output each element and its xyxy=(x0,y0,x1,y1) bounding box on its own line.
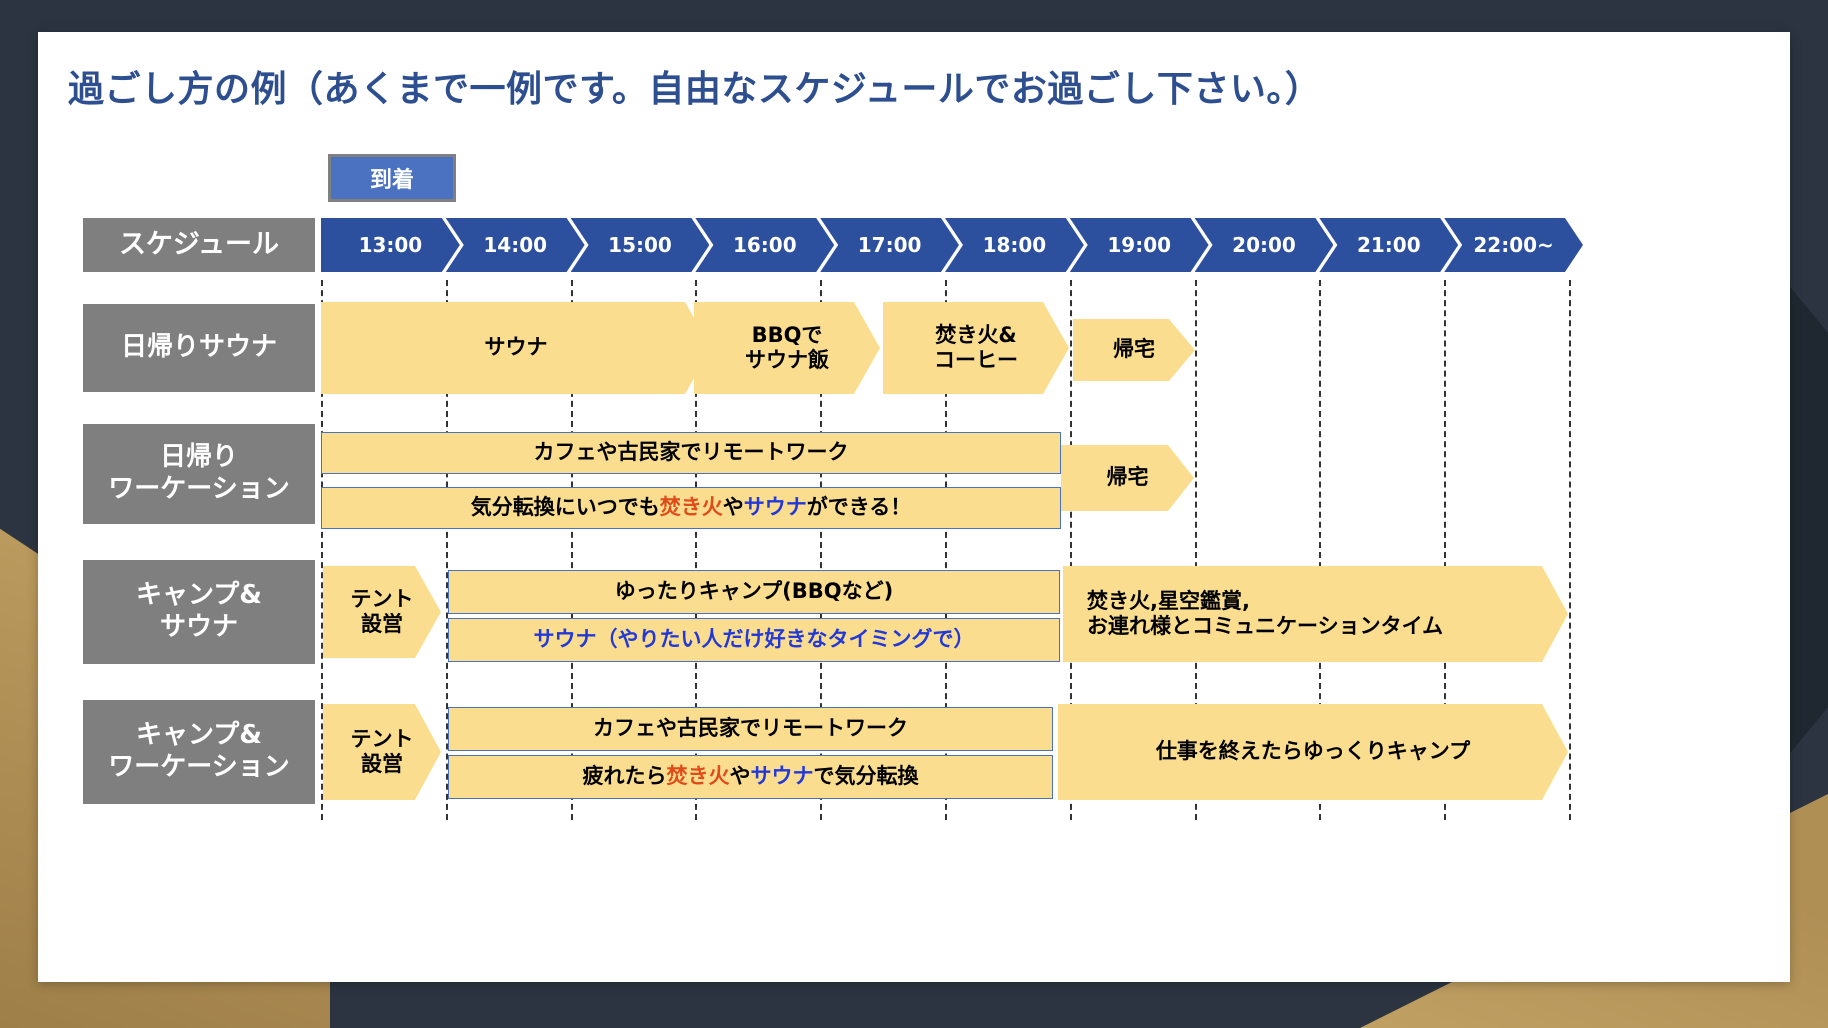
slide-canvas: 過ごし方の例（あくまで一例です。自由なスケジュールでお過ごし下さい。） 到着 ス… xyxy=(38,32,1790,982)
activity-tent-setup-2-label: テント設営 xyxy=(345,727,420,777)
row-label-3: キャンプ&ワーケーション xyxy=(83,700,315,804)
activity-sauna: サウナ xyxy=(321,302,711,394)
activity-tent-setup-1: テント設営 xyxy=(323,566,441,658)
activity-go-home-1-label: 帰宅 xyxy=(1107,337,1161,362)
timeline-chevron-1300: 13:00 xyxy=(321,218,460,272)
text-run-black: ができる！ xyxy=(807,495,912,519)
row-label-3-text: キャンプ&ワーケーション xyxy=(108,720,289,783)
activity-remote-work-1: カフェや古民家でリモートワーク xyxy=(321,432,1061,474)
timeline-chevron-1700: 17:00 xyxy=(820,218,959,272)
text-run-red: 焚き火 xyxy=(667,764,730,788)
text-run-black: 疲れたら xyxy=(583,764,667,788)
row-label-2-text: キャンプ&サウナ xyxy=(136,580,262,643)
activity-bonfire-coffee-label: 焚き火&コーヒー xyxy=(928,323,1024,373)
text-run-blue: サウナ xyxy=(744,495,807,519)
activity-bbq-sauna-meal: BBQでサウナ飯 xyxy=(694,302,880,394)
text-run-black: で気分転換 xyxy=(814,764,919,788)
row-label-0: 日帰りサウナ xyxy=(83,304,315,392)
row-label-1-text: 日帰りワーケーション xyxy=(108,442,289,505)
timeline-chevron-1500: 15:00 xyxy=(571,218,710,272)
page-title: 過ごし方の例（あくまで一例です。自由なスケジュールでお過ごし下さい。） xyxy=(68,60,1321,112)
text-run-red: 焚き火 xyxy=(660,495,723,519)
activity-go-home-1: 帰宅 xyxy=(1073,319,1195,381)
activity-sauna-label: サウナ xyxy=(479,335,554,360)
timeline-chevron-2000: 20:00 xyxy=(1195,218,1334,272)
row-label-1: 日帰りワーケーション xyxy=(83,424,315,524)
timeline-chevron-1400: 14:00 xyxy=(446,218,585,272)
text-run-blue: サウナ xyxy=(751,764,814,788)
activity-tired-refresh: 疲れたら焚き火やサウナで気分転換 xyxy=(448,755,1053,799)
activity-tent-setup-2: テント設営 xyxy=(323,704,441,800)
activity-bonfire-stargazing: 焚き火,星空鑑賞,お連れ様とコミュニケーションタイム xyxy=(1063,566,1568,662)
text-run-black: 気分転換にいつでも xyxy=(471,495,660,519)
activity-relaxed-camp-label: ゆったりキャンプ(BBQなど) xyxy=(609,579,899,604)
activity-remote-work-2-label: カフェや古民家でリモートワーク xyxy=(587,716,914,741)
timeline-chevron-row: 13:0014:0015:0016:0017:0018:0019:0020:00… xyxy=(321,218,1569,272)
row-label-schedule: スケジュール xyxy=(83,218,315,272)
activity-go-home-2-label: 帰宅 xyxy=(1101,465,1155,490)
activity-sauna-anytime: サウナ（やりたい人だけ好きなタイミングで） xyxy=(448,618,1060,662)
timeline-chevron-1800: 18:00 xyxy=(945,218,1084,272)
activity-remote-work-1-label: カフェや古民家でリモートワーク xyxy=(528,440,855,465)
activity-relaxed-camp: ゆったりキャンプ(BBQなど) xyxy=(448,570,1060,614)
activity-bbq-sauna-meal-label: BBQでサウナ飯 xyxy=(739,323,835,373)
activity-sauna-anytime-label: サウナ（やりたい人だけ好きなタイミングで） xyxy=(528,627,981,652)
activity-mood-change: 気分転換にいつでも焚き火やサウナができる！ xyxy=(321,487,1061,529)
activity-remote-work-2: カフェや古民家でリモートワーク xyxy=(448,707,1053,751)
activity-tired-refresh-label: 疲れたら焚き火やサウナで気分転換 xyxy=(577,764,925,789)
text-run-black: や xyxy=(723,495,744,519)
activity-mood-change-label: 気分転換にいつでも焚き火やサウナができる！ xyxy=(465,495,918,520)
gridline-10 xyxy=(1569,280,1571,820)
row-label-2: キャンプ&サウナ xyxy=(83,560,315,664)
activity-bonfire-coffee: 焚き火&コーヒー xyxy=(883,302,1069,394)
timeline-chevron-2100: 21:00 xyxy=(1319,218,1458,272)
timeline-chevron-2200: 22:00~ xyxy=(1444,218,1583,272)
text-run-black: や xyxy=(730,764,751,788)
activity-bonfire-stargazing-label: 焚き火,星空鑑賞,お連れ様とコミュニケーションタイム xyxy=(1081,589,1449,639)
activity-tent-setup-1-label: テント設営 xyxy=(345,587,420,637)
row-label-0-text: 日帰りサウナ xyxy=(121,332,277,364)
activity-go-home-2: 帰宅 xyxy=(1061,445,1194,511)
arrival-badge: 到着 xyxy=(328,154,456,202)
activity-camp-after-work: 仕事を終えたらゆっくりキャンプ xyxy=(1058,704,1568,800)
activity-camp-after-work-label: 仕事を終えたらゆっくりキャンプ xyxy=(1150,739,1476,764)
timeline-chevron-1900: 19:00 xyxy=(1070,218,1209,272)
timeline-chevron-1600: 16:00 xyxy=(695,218,834,272)
text-run-blue: サウナ（やりたい人だけ好きなタイミングで） xyxy=(534,627,975,651)
